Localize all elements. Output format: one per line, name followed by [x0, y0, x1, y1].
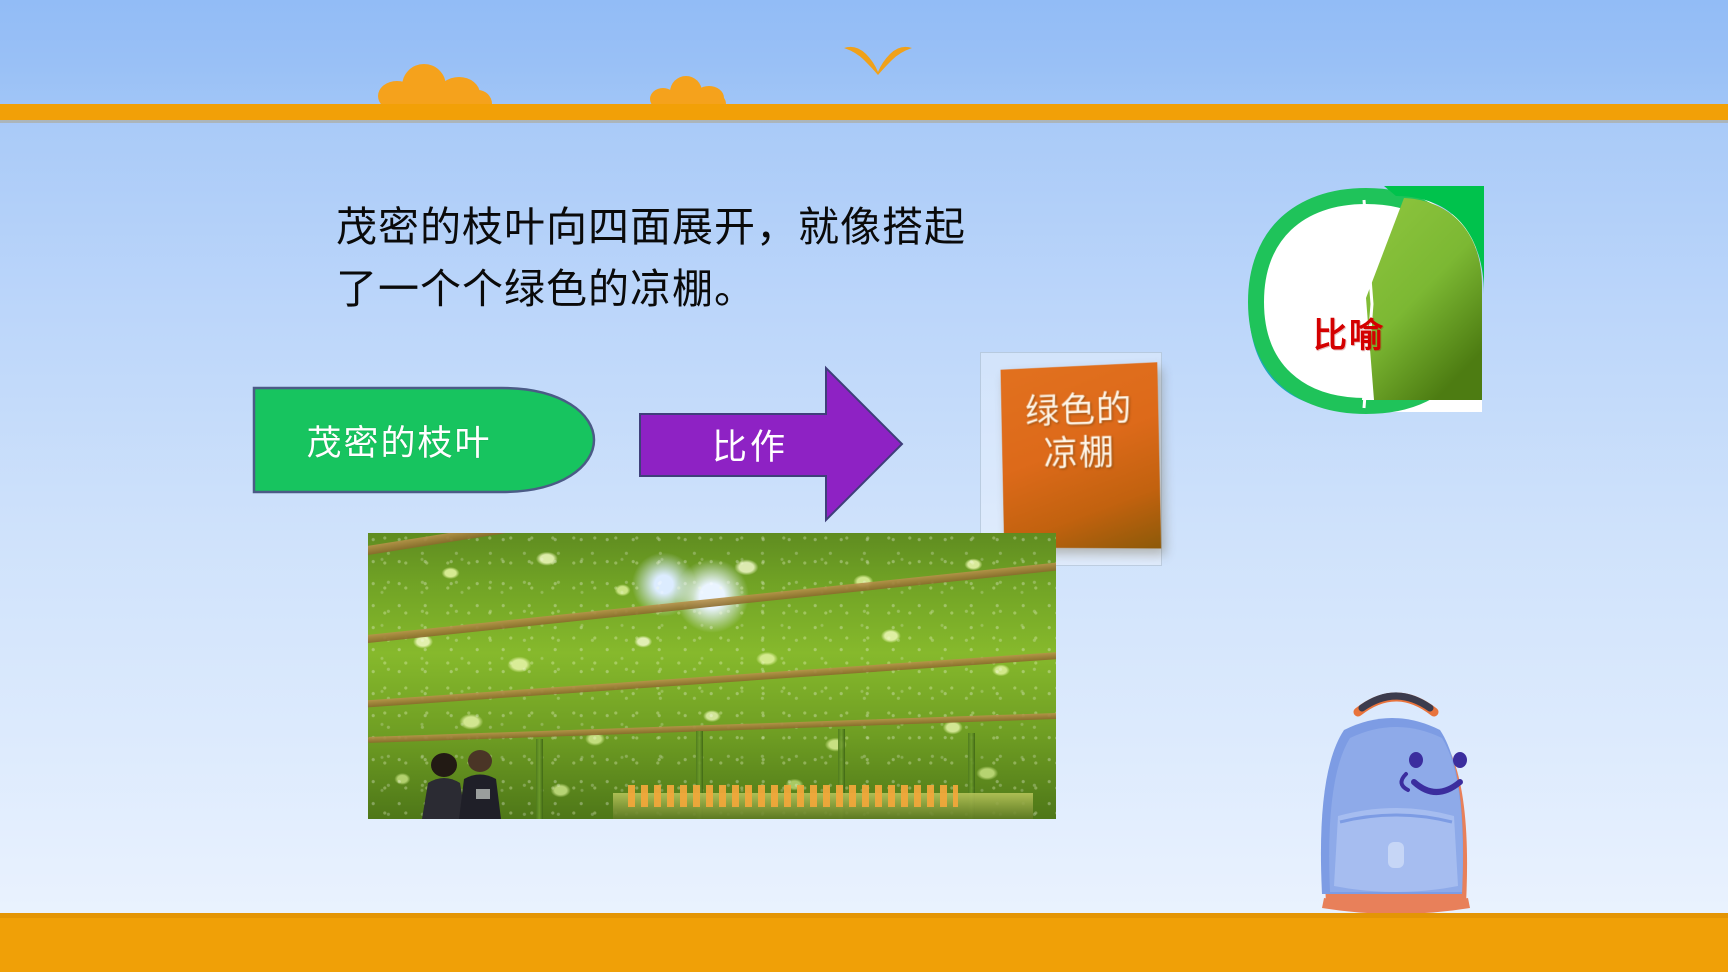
arbor-photo [368, 533, 1056, 819]
slide-canvas: 茂密的枝叶向四面展开，就像搭起 了一个个绿色的凉棚。 茂密的枝叶 比作 绿色的 … [0, 0, 1728, 972]
metaphor-badge[interactable]: 比喻 [1244, 186, 1488, 416]
diagram-target-label-line1: 绿色的 [1001, 387, 1159, 435]
body-line-1: 茂密的枝叶向四面展开，就像搭起 [336, 196, 1076, 258]
bird-icon [842, 42, 914, 76]
diagram-relation-label: 比作 [690, 416, 810, 472]
metaphor-badge-label: 比喻 [1274, 308, 1424, 357]
diagram-relation-arrow[interactable]: 比作 [636, 364, 906, 524]
diagram-target-shape[interactable]: 绿色的 凉棚 [1001, 362, 1162, 548]
photo-people [416, 749, 536, 819]
cloud-left-icon [378, 64, 498, 105]
cloud-right-icon [650, 76, 730, 106]
diagram-source-label: 茂密的枝叶 [252, 386, 546, 494]
top-divider-bar [0, 104, 1728, 120]
body-paragraph: 茂密的枝叶向四面展开，就像搭起 了一个个绿色的凉棚。 [336, 196, 1076, 321]
photo-fence [628, 785, 958, 807]
diagram-target-label: 绿色的 凉棚 [1001, 387, 1160, 477]
diagram-target-label-line2: 凉棚 [1002, 430, 1160, 476]
photo-post [536, 739, 543, 819]
diagram-source-shape[interactable]: 茂密的枝叶 [252, 386, 596, 494]
body-line-2: 了一个个绿色的凉棚。 [336, 258, 1076, 320]
top-divider-shadow [0, 120, 1728, 123]
footer-bar [0, 918, 1728, 972]
backpack-icon [1296, 656, 1496, 916]
